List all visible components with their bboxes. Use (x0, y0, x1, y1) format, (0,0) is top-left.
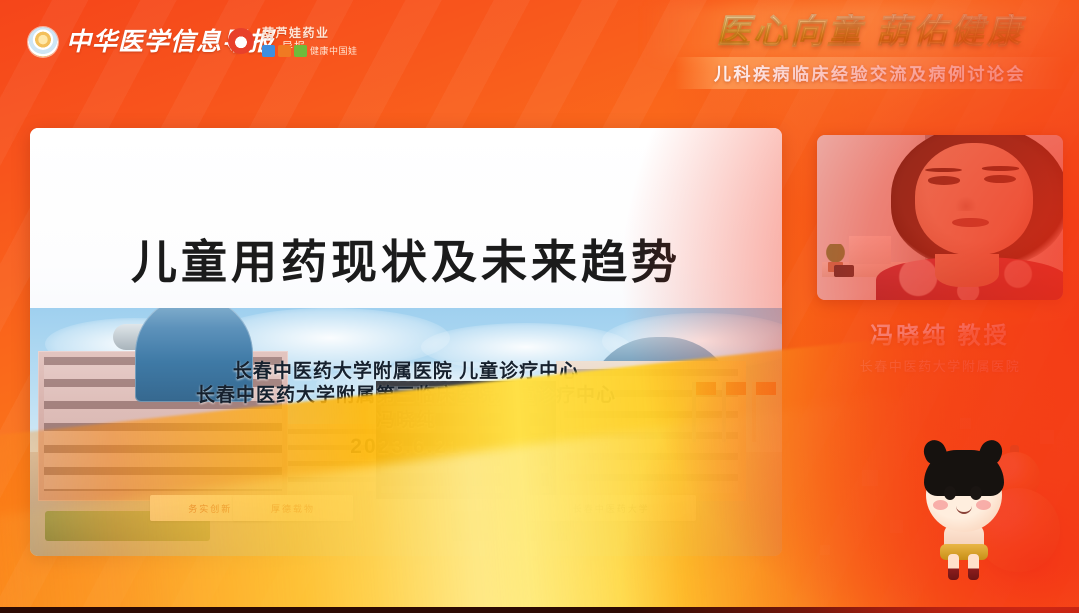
partner-logo-line2-row: 健康中国娃 (262, 44, 358, 57)
photo-sign-mid: 厚德载物 (233, 495, 353, 521)
event-subtitle-band: 儿科疾病临床经验交流及病例讨论会 (675, 57, 1065, 89)
event-title-banner: 医心向童 葫佑健康 儿科疾病临床经验交流及病例讨论会 (675, 14, 1065, 89)
presenter-eye (928, 176, 960, 184)
webcam-dark-object (834, 265, 854, 277)
presenter-neck (935, 254, 999, 287)
photo-sign-right: 长春中医药大学 (526, 495, 696, 521)
presenter-webcam[interactable] (817, 135, 1063, 300)
background-bokeh (960, 418, 971, 429)
presenter-eyebrow (982, 166, 1019, 170)
slide-credit-line-2: 长春中医药大学附属第三临床医院儿童诊疗中心 (30, 384, 782, 408)
slide-title: 儿童用药现状及未来趋势 (30, 226, 782, 292)
partner-chip-green-icon (294, 45, 307, 57)
event-title: 医心向童 葫佑健康 (675, 14, 1065, 52)
mascot-leg (968, 554, 979, 580)
slide-credit-line-3: 冯晓纯 (30, 409, 782, 433)
mascot-blush (976, 500, 991, 510)
gourd-drop-icon (228, 28, 254, 54)
slide-credit-block: 长春中医药大学附属医院 儿童诊疗中心 长春中医药大学附属第三临床医院儿童诊疗中心… (30, 360, 782, 461)
background-bokeh (862, 470, 878, 486)
mascot-eye (970, 486, 982, 500)
mascot-leg (948, 554, 959, 580)
partner-logo-text: 葫芦娃药业 健康中国娃 (262, 24, 358, 57)
calabash-boy-mascot (918, 440, 1068, 590)
speaker-caption: 冯晓纯 教授 长春中医药大学附属医院 (817, 316, 1063, 375)
partner-logo-line2: 健康中国娃 (310, 44, 358, 57)
event-subtitle: 儿科疾病临床经验交流及病例讨论会 (675, 60, 1065, 85)
slide-credit-line-1: 长春中医药大学附属医院 儿童诊疗中心 (30, 360, 782, 384)
mascot-eye (944, 486, 956, 500)
background-bokeh (820, 545, 830, 555)
partner-logo-line1: 葫芦娃药业 (262, 24, 358, 41)
background-bokeh (890, 520, 903, 533)
partner-chip-orange-icon (278, 45, 291, 57)
speaker-name: 冯晓纯 教授 (817, 316, 1063, 350)
presenter-eye (984, 175, 1016, 183)
broadcast-stage: 中华医学信息导报 导报 葫芦娃药业 健康中国娃 医心向童 葫佑健康 儿科疾病临床… (0, 0, 1079, 613)
webcam-box (849, 236, 891, 264)
bottom-edge-strip (0, 607, 1079, 613)
partner-logo: 葫芦娃药业 健康中国娃 (228, 24, 358, 57)
cma-emblem-icon (28, 27, 58, 57)
speaker-organization: 长春中医药大学附属医院 (817, 356, 1063, 375)
presentation-slide[interactable]: 儿童用药现状及未来趋势 务实创新 厚德载物 长春中医药大学 (30, 128, 782, 556)
presenter-nose (955, 196, 977, 211)
slide-credit-date: 2023.6.21 (30, 434, 782, 461)
mascot-blush (933, 500, 948, 510)
partner-chip-blue-icon (262, 45, 275, 57)
